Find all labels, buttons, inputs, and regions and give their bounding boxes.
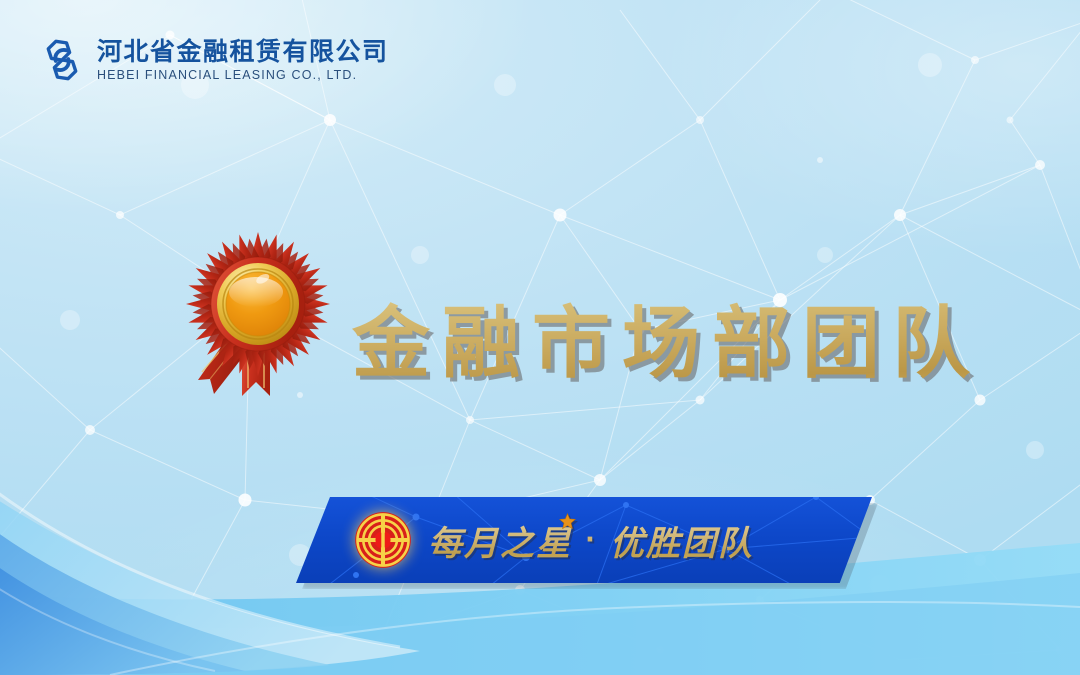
rosette-ribbon-medal-icon	[178, 222, 338, 397]
hexagon-interlock-logo-icon	[38, 36, 86, 84]
brand-name-cn: 河北省金融租赁有限公司	[97, 39, 389, 64]
star-icon	[559, 513, 576, 530]
award-slide: 河北省金融租赁有限公司 HEBEI FINANCIAL LEASING CO.,…	[0, 0, 1080, 675]
page-title: 金融市场部团队	[352, 281, 982, 393]
banner-body: 每月之星 · 优胜团队	[296, 497, 872, 583]
brand-header: 河北省金融租赁有限公司 HEBEI FINANCIAL LEASING CO.,…	[38, 36, 389, 84]
award-banner: 每月之星 · 优胜团队	[296, 497, 872, 583]
trade-union-emblem-icon	[354, 511, 412, 569]
banner-text-right: 优胜团队	[610, 516, 754, 565]
banner-separator: ·	[585, 525, 597, 555]
brand-name-en: HEBEI FINANCIAL LEASING CO., LTD.	[97, 69, 389, 82]
banner-text-left: 每月之星	[428, 516, 572, 565]
banner-text: 每月之星 · 优胜团队	[428, 516, 754, 565]
